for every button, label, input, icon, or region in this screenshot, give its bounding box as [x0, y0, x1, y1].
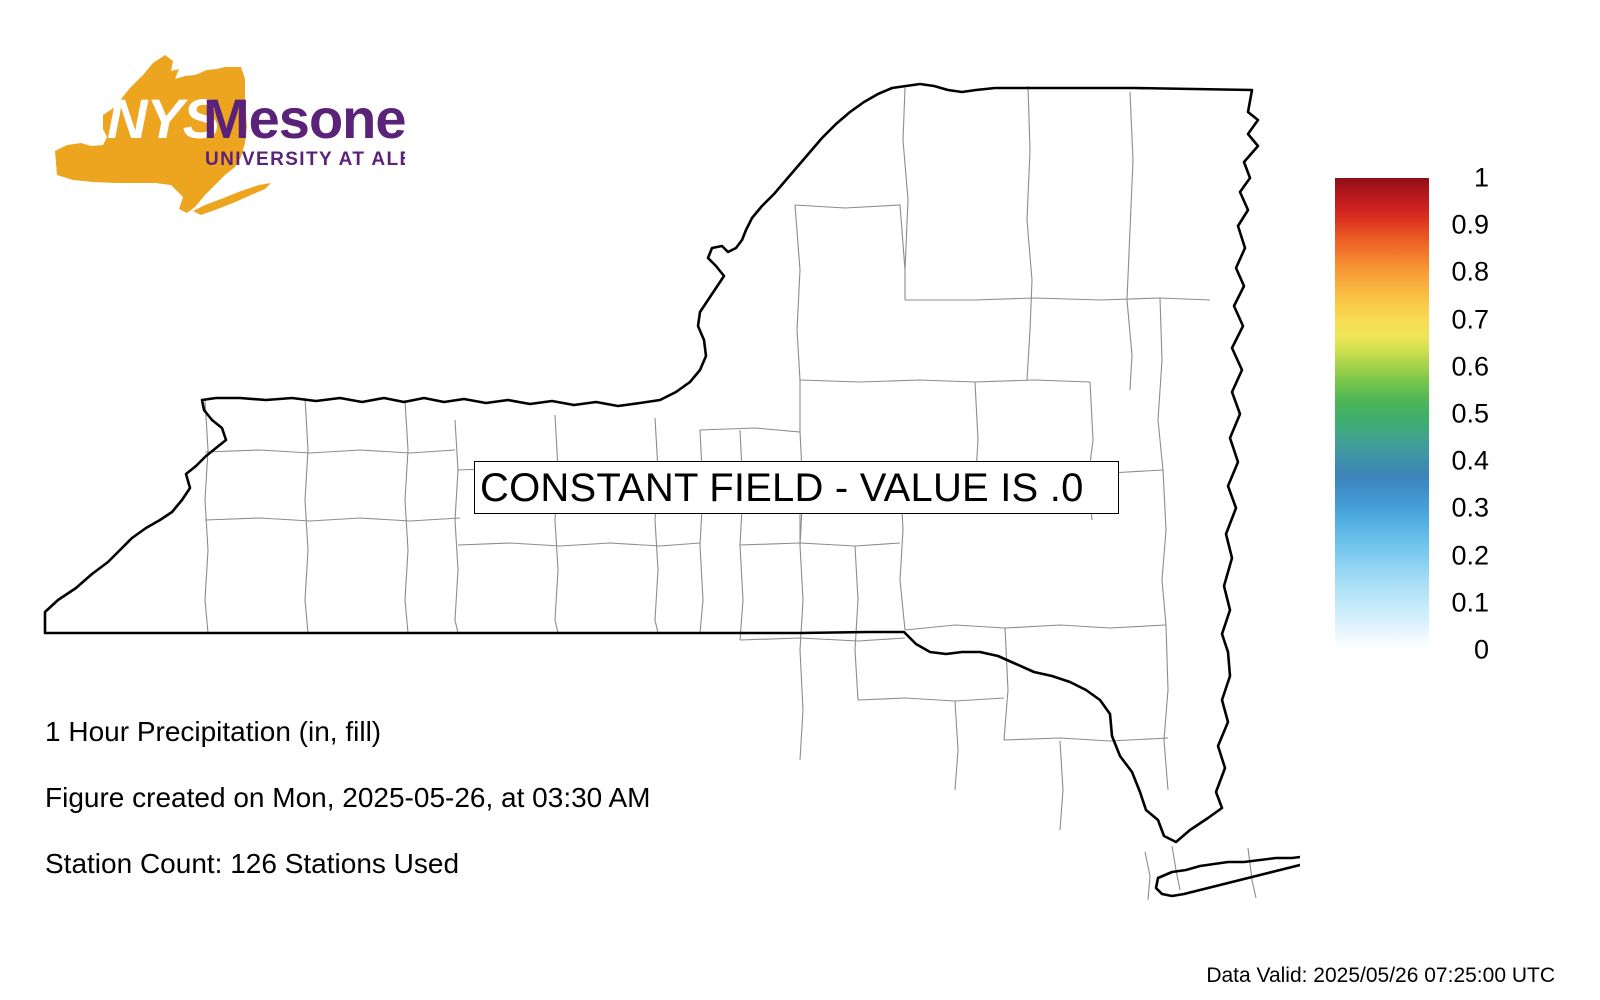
colorbar-tick: 1: [1429, 165, 1489, 192]
colorbar-tick: 0.1: [1429, 589, 1489, 616]
figure-canvas: NYS Mesonet UNIVERSITY AT ALBANY: [0, 0, 1600, 1000]
colorbar-tick: 0.2: [1429, 542, 1489, 569]
colorbar-tick: 0: [1429, 637, 1489, 664]
caption-block: 1 Hour Precipitation (in, fill) Figure c…: [45, 718, 765, 878]
caption-stations-label: Station Count: 126 Stations Used: [45, 850, 765, 878]
caption-product-label: 1 Hour Precipitation (in, fill): [45, 718, 765, 746]
colorbar-gradient: [1335, 178, 1429, 650]
colorbar-tick: 0.7: [1429, 306, 1489, 333]
caption-created-label: Figure created on Mon, 2025-05-26, at 03…: [45, 784, 765, 812]
data-valid-label: Data Valid: 2025/05/26 07:25:00 UTC: [1206, 965, 1555, 986]
colorbar-tick: 0.3: [1429, 495, 1489, 522]
colorbar-tick: 0.9: [1429, 212, 1489, 239]
colorbar[interactable]: [1335, 178, 1429, 650]
colorbar-tick: 0.4: [1429, 448, 1489, 475]
colorbar-tick: 0.8: [1429, 259, 1489, 286]
colorbar-tick: 0.6: [1429, 353, 1489, 380]
colorbar-tick: 0.5: [1429, 401, 1489, 428]
constant-field-annotation: CONSTANT FIELD - VALUE IS .0: [474, 461, 1119, 514]
colorbar-tick-labels: 1 0.9 0.8 0.7 0.6 0.5 0.4 0.3 0.2 0.1 0: [1429, 178, 1489, 650]
constant-field-text: CONSTANT FIELD - VALUE IS .0: [480, 468, 1084, 508]
